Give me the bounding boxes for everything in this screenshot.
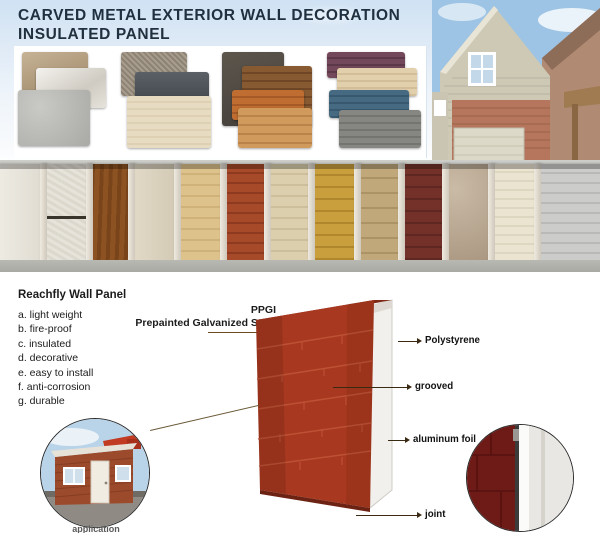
polystyrene-arrow-icon <box>417 338 422 344</box>
joint-arrow-icon <box>417 512 422 518</box>
feature-item: e. easy to install <box>18 366 93 380</box>
swatch-group-speckle <box>117 46 221 158</box>
strip-ground <box>0 260 600 272</box>
feature-item: g. durable <box>18 394 93 408</box>
swatch-tan-brick <box>238 108 312 148</box>
panel-tan-brick <box>174 164 226 264</box>
product-infographic: CARVED METAL EXTERIOR WALL DECORATION IN… <box>0 0 600 533</box>
panel-beige-brick <box>264 164 314 264</box>
swatch-group-siding <box>323 46 427 158</box>
features-list: a. light weight b. fire-proof c. insulat… <box>18 308 93 409</box>
panel-gold-stone <box>308 164 360 264</box>
panel-tan-mosaic <box>354 164 404 264</box>
feature-item: d. decorative <box>18 351 93 365</box>
grooved-arrow-icon <box>407 384 412 390</box>
panel-light-stucco <box>40 164 92 264</box>
panel-red-brick <box>220 164 270 264</box>
page-title: CARVED METAL EXTERIOR WALL DECORATION IN… <box>18 6 448 44</box>
house-photo <box>432 0 600 165</box>
swatch-gray-granite <box>18 90 90 146</box>
feature-item: b. fire-proof <box>18 322 93 336</box>
aluminum-foil-arrow-icon <box>405 437 410 443</box>
swatch-gray <box>339 110 421 148</box>
feature-item: c. insulated <box>18 337 93 351</box>
panel-sample-strip <box>0 160 600 272</box>
feature-item: a. light weight <box>18 308 93 322</box>
panel-wood-grain <box>86 164 134 264</box>
panel-cream <box>128 164 180 264</box>
swatch-group-brick <box>220 46 324 158</box>
panel-3d-graphic <box>242 294 422 519</box>
feature-item: f. anti-corrosion <box>18 380 93 394</box>
page-title-line1: CARVED METAL EXTERIOR WALL DECORATION <box>18 6 448 25</box>
callout-joint: joint <box>425 509 445 520</box>
callout-grooved: grooved <box>415 381 453 392</box>
panel-3d-diagram <box>242 294 422 519</box>
cross-section-graphic <box>467 425 573 531</box>
cabin-photo-graphic <box>41 419 149 527</box>
panel-cream-siding <box>488 164 540 264</box>
application-caption: application <box>46 524 146 533</box>
panel-dark-red-brick <box>398 164 448 264</box>
page-title-line2: INSULATED PANEL <box>18 25 448 44</box>
house-photo-graphic <box>432 0 600 165</box>
aluminum-foil-leader <box>388 440 406 441</box>
cross-section-detail <box>466 424 574 532</box>
joint-leader <box>356 515 418 516</box>
polystyrene-leader <box>398 341 418 342</box>
grooved-leader <box>333 387 408 388</box>
panel-granite-speckle <box>442 164 494 264</box>
header-banner: CARVED METAL EXTERIOR WALL DECORATION IN… <box>0 0 600 165</box>
features-heading: Reachfly Wall Panel <box>18 289 126 301</box>
panel-gray-siding <box>534 164 600 264</box>
swatch-group-stone <box>14 46 118 158</box>
callout-polystyrene: Polystyrene <box>425 335 480 346</box>
cabin-application-photo <box>40 418 150 528</box>
swatch-cream-siding <box>127 96 211 148</box>
callout-aluminum-foil: aluminum foil <box>413 434 476 445</box>
